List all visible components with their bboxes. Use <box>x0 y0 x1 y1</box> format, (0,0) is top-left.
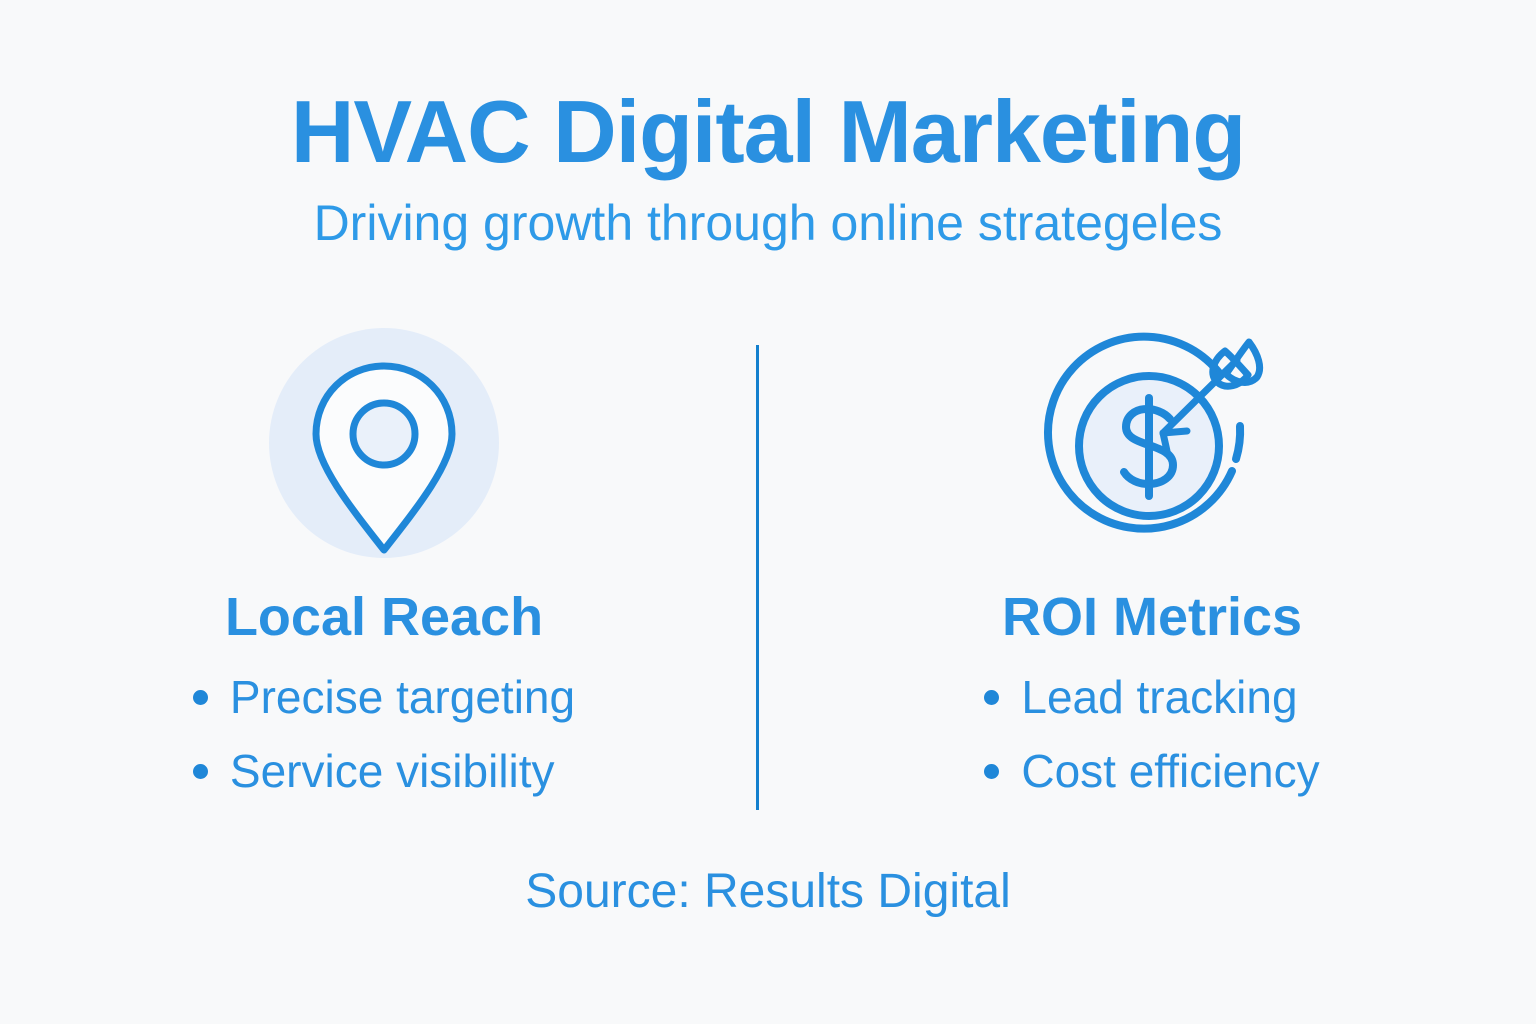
footer: Source: Results Digital <box>0 868 1536 916</box>
header: HVAC Digital Marketing Driving growth th… <box>0 88 1536 248</box>
bullet-dot-icon <box>193 690 208 705</box>
column-heading-roi-metrics: ROI Metrics <box>1002 590 1302 644</box>
bullet-list-roi-metrics: Lead tracking Cost efficiency <box>984 674 1319 794</box>
list-item-label: Cost efficiency <box>1021 748 1319 794</box>
column-local-reach: Local Reach Precise targeting Service vi… <box>0 318 768 838</box>
bullet-list-local-reach: Precise targeting Service visibility <box>193 674 575 794</box>
columns-container: Local Reach Precise targeting Service vi… <box>0 318 1536 838</box>
column-heading-local-reach: Local Reach <box>225 590 543 644</box>
list-item: Cost efficiency <box>984 748 1319 794</box>
location-pin-icon <box>259 318 509 568</box>
list-item-label: Service visibility <box>230 748 555 794</box>
list-item-label: Precise targeting <box>230 674 575 720</box>
bullet-dot-icon <box>984 764 999 779</box>
list-item: Precise targeting <box>193 674 575 720</box>
bullet-dot-icon <box>193 764 208 779</box>
source-attribution: Source: Results Digital <box>0 868 1536 916</box>
list-item: Lead tracking <box>984 674 1319 720</box>
list-item: Service visibility <box>193 748 575 794</box>
page-title: HVAC Digital Marketing <box>0 88 1536 176</box>
bullet-dot-icon <box>984 690 999 705</box>
page-subtitle: Driving growth through online strategele… <box>0 198 1536 248</box>
column-roi-metrics: ROI Metrics Lead tracking Cost efficienc… <box>768 318 1536 838</box>
list-item-label: Lead tracking <box>1021 674 1297 720</box>
column-divider <box>756 345 759 810</box>
target-dollar-arrow-icon <box>1027 318 1277 568</box>
infographic-poster: HVAC Digital Marketing Driving growth th… <box>0 0 1536 1024</box>
